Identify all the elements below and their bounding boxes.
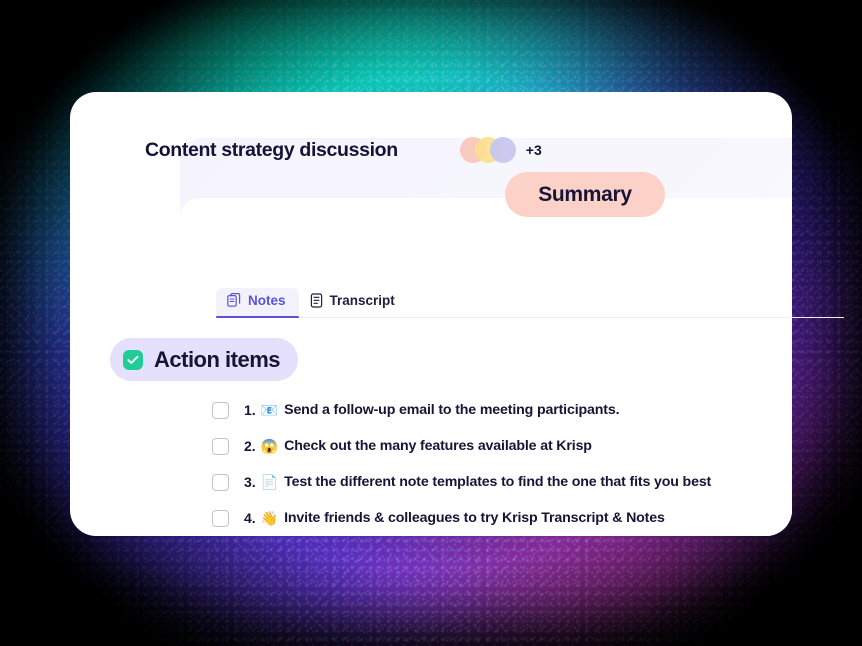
item-checkbox[interactable] [212, 438, 229, 455]
action-items-list: 1. 📧 Send a follow-up email to the meeti… [212, 393, 848, 537]
page-title: Content strategy discussion [145, 139, 398, 162]
note-tabs: Notes Transcript [216, 282, 844, 318]
item-text: Check out the many features available at… [284, 438, 592, 454]
screenshot-stage: Content strategy discussion +3 Summary N… [0, 0, 862, 646]
avatar-stack[interactable] [460, 137, 516, 163]
item-number: 3. [244, 474, 256, 490]
list-item[interactable]: 1. 📧 Send a follow-up email to the meeti… [212, 393, 848, 427]
tab-transcript-label: Transcript [330, 293, 395, 308]
tab-notes-label: Notes [248, 293, 286, 308]
action-items-badge: Action items [110, 338, 298, 381]
item-number: 4. [244, 510, 256, 526]
transcript-icon [310, 293, 323, 308]
item-text: Send a follow-up email to the meeting pa… [284, 402, 619, 418]
item-number: 2. [244, 438, 256, 454]
summary-badge[interactable]: Summary [505, 172, 665, 217]
summary-badge-label: Summary [538, 183, 632, 207]
item-checkbox[interactable] [212, 402, 229, 419]
email-emoji: 📧 [261, 403, 278, 417]
waving-hand-emoji: 👋 [261, 511, 278, 525]
item-number: 1. [244, 402, 256, 418]
screaming-face-emoji: 😱 [261, 439, 278, 453]
page-document-emoji: 📄 [261, 475, 278, 489]
notes-icon [227, 293, 241, 308]
note-header: Content strategy discussion +3 [145, 122, 844, 178]
checkbox-checked-icon [123, 350, 143, 370]
item-text: Invite friends & colleagues to try Krisp… [284, 510, 665, 526]
list-item[interactable]: 4. 👋 Invite friends & colleagues to try … [212, 501, 848, 535]
avatar[interactable] [490, 137, 516, 163]
item-checkbox[interactable] [212, 474, 229, 491]
participants-group[interactable]: +3 [460, 137, 542, 163]
tab-notes[interactable]: Notes [216, 288, 299, 317]
list-item[interactable]: 2. 😱 Check out the many features availab… [212, 429, 848, 463]
avatar-more-count[interactable]: +3 [526, 142, 542, 158]
item-text: Test the different note templates to fin… [284, 474, 711, 490]
tab-transcript[interactable]: Transcript [299, 288, 408, 317]
list-item[interactable]: 3. 📄 Test the different note templates t… [212, 465, 848, 499]
action-items-badge-label: Action items [154, 347, 280, 373]
item-checkbox[interactable] [212, 510, 229, 527]
